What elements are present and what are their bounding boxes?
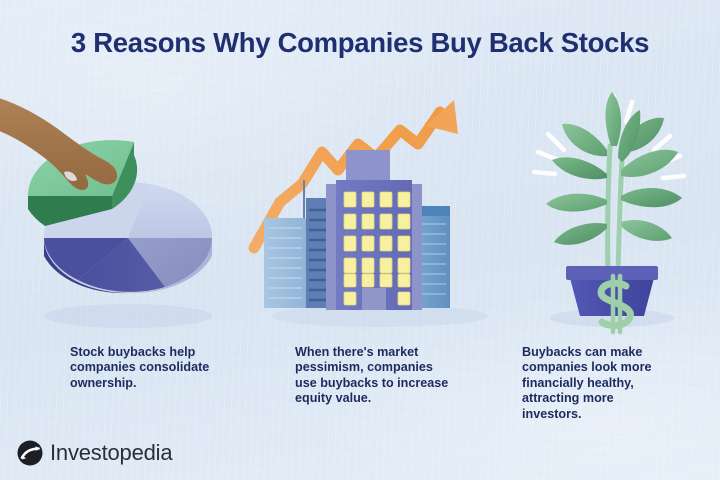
caption-panel-pie: Stock buybacks help companies consolidat…: [70, 345, 260, 391]
investopedia-logo[interactable]: Investopedia: [17, 440, 172, 466]
page-title: 3 Reasons Why Companies Buy Back Stocks: [0, 27, 720, 59]
pie-chart-graphic: [0, 88, 250, 333]
panel-buildings-illustration: [258, 88, 508, 328]
panel-plant-illustration: [508, 88, 720, 328]
caption-panel-plant: Buybacks can make companies look more fi…: [522, 345, 707, 422]
caption-panel-buildings: When there's market pessimism, companies…: [295, 345, 485, 407]
investopedia-wordmark: Investopedia: [50, 440, 172, 466]
plant-stems: [608, 146, 622, 274]
investopedia-mark-icon: [17, 440, 43, 466]
pie-shadow: [44, 304, 212, 328]
buildings-graphic: [258, 88, 508, 333]
infographic-canvas: 3 Reasons Why Companies Buy Back Stocks: [0, 0, 720, 480]
building-left-pale: [264, 218, 306, 308]
main-building-entrance: [362, 288, 386, 310]
plant-graphic: [508, 88, 720, 333]
panel-pie-illustration: [0, 88, 250, 328]
